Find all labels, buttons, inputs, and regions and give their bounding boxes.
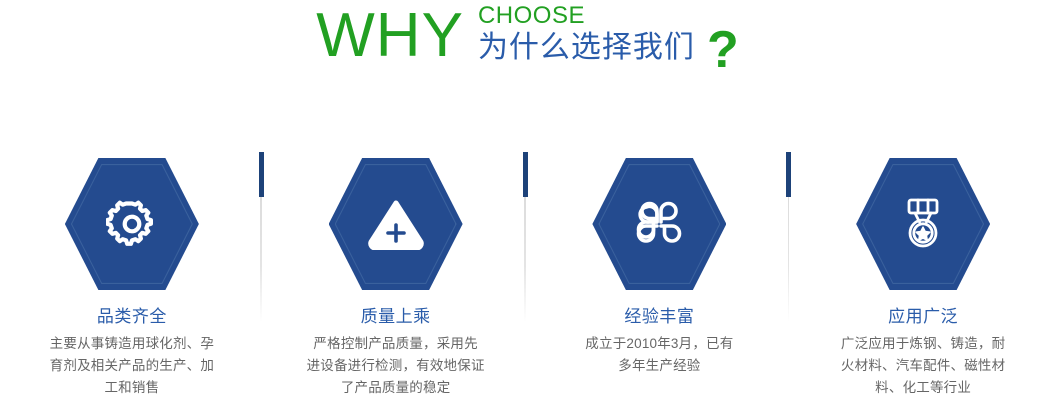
divider-gray-line bbox=[524, 197, 526, 322]
card-description-line: 了产品质量的稳定 bbox=[291, 377, 501, 399]
card-description: 广泛应用于炼钢、铸造，耐 火材料、汽车配件、磁性材 料、化工等行业 bbox=[818, 333, 1028, 399]
feature-card[interactable]: 经验丰富 成立于2010年3月，已有 多年生产经验 bbox=[528, 140, 792, 416]
heading-choose-word: CHOOSE bbox=[478, 2, 695, 29]
hexagon-badge bbox=[65, 158, 199, 290]
heading-why-word: WHY bbox=[316, 0, 464, 72]
heading-question-mark: ? bbox=[707, 22, 739, 78]
feature-card[interactable]: 质量上乘 严格控制产品质量，采用先 进设备进行检测，有效地保证 了产品质量的稳定 bbox=[264, 140, 528, 416]
card-title: 应用广泛 bbox=[888, 306, 958, 328]
hexagon-badge bbox=[592, 158, 726, 290]
card-description-line: 多年生产经验 bbox=[554, 355, 764, 377]
heading-text-stack: CHOOSE 为什么选择我们 bbox=[478, 2, 695, 67]
feature-card[interactable]: 品类齐全 主要从事铸造用球化剂、孕 育剂及相关产品的生产、加 工和销售 bbox=[0, 140, 264, 416]
card-description-line: 严格控制产品质量，采用先 bbox=[291, 333, 501, 355]
card-description-line: 育剂及相关产品的生产、加 bbox=[27, 355, 237, 377]
card-title: 质量上乘 bbox=[361, 306, 431, 328]
card-description-line: 火材料、汽车配件、磁性材 bbox=[818, 355, 1028, 377]
feature-cards-row: 品类齐全 主要从事铸造用球化剂、孕 育剂及相关产品的生产、加 工和销售 bbox=[0, 140, 1055, 416]
card-description-line: 成立于2010年3月，已有 bbox=[554, 333, 764, 355]
divider-gray-line bbox=[788, 197, 790, 322]
card-description-line: 工和销售 bbox=[27, 377, 237, 399]
card-description-line: 进设备进行检测，有效地保证 bbox=[291, 355, 501, 377]
hexagon-badge bbox=[856, 158, 990, 290]
heading-inner: WHY CHOOSE 为什么选择我们 ? bbox=[316, 0, 738, 78]
card-description-line: 料、化工等行业 bbox=[818, 377, 1028, 399]
card-description-line: 主要从事铸造用球化剂、孕 bbox=[27, 333, 237, 355]
feature-card[interactable]: 应用广泛 广泛应用于炼钢、铸造，耐 火材料、汽车配件、磁性材 料、化工等行业 bbox=[791, 140, 1055, 416]
gear-icon bbox=[65, 158, 199, 290]
clover-icon bbox=[592, 158, 726, 290]
hexagon-badge bbox=[329, 158, 463, 290]
card-title: 经验丰富 bbox=[624, 306, 694, 328]
triangle-plus-icon bbox=[329, 158, 463, 290]
heading-chinese-subtitle: 为什么选择我们 bbox=[478, 29, 695, 67]
divider-gray-line bbox=[260, 197, 262, 322]
medal-icon bbox=[856, 158, 990, 290]
card-description-line: 广泛应用于炼钢、铸造，耐 bbox=[818, 333, 1028, 355]
section-heading: WHY CHOOSE 为什么选择我们 ? bbox=[0, 0, 1055, 100]
card-description: 成立于2010年3月，已有 多年生产经验 bbox=[554, 333, 764, 377]
card-description: 严格控制产品质量，采用先 进设备进行检测，有效地保证 了产品质量的稳定 bbox=[291, 333, 501, 399]
card-description: 主要从事铸造用球化剂、孕 育剂及相关产品的生产、加 工和销售 bbox=[27, 333, 237, 399]
card-title: 品类齐全 bbox=[97, 306, 167, 328]
